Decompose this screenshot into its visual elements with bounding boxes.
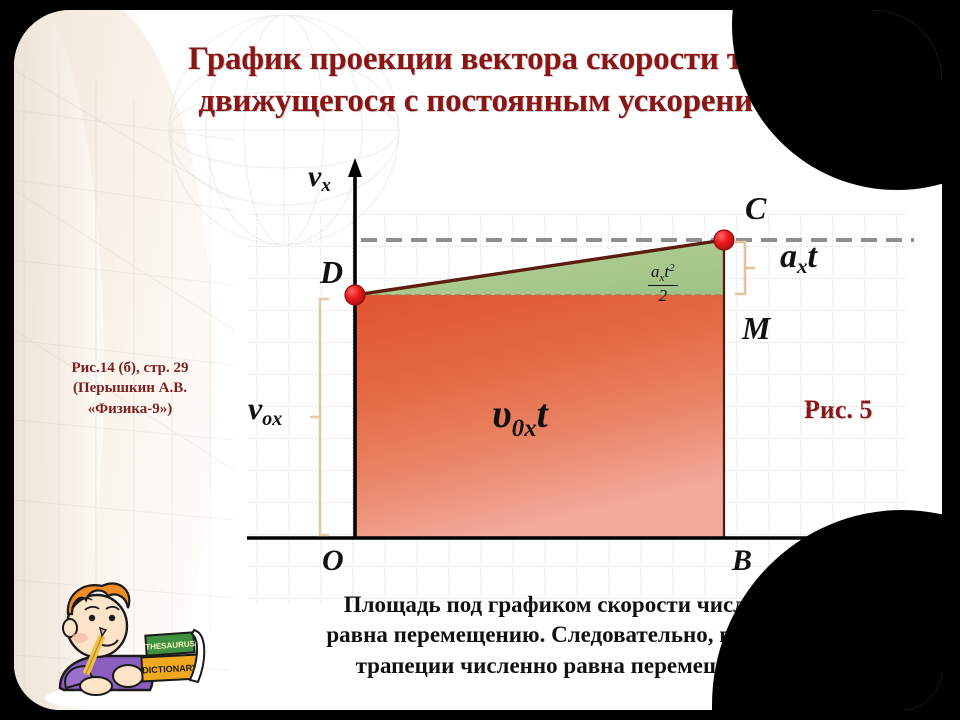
point-label-O: O [322,544,344,578]
area-label-rect-sub: 0x [512,415,537,442]
boy-with-books-clipart: THESAURUS DICTIONARY [42,570,212,710]
brace-label-v0x: vox [248,390,282,431]
brace-label-axt-a: a [780,238,797,275]
source-note: Рис.14 (б), стр. 29 (Перышкин А.В. «Физи… [40,358,220,419]
area-label-rect: υ0xt [492,390,548,443]
axis-label-vx: vx [308,160,331,197]
tri-num-pow: 2 [669,262,675,274]
point-marker-C [714,230,734,250]
axis-label-vx-sub: x [321,175,331,196]
brace-label-axt: axt [780,238,817,279]
brace-label-axt-sub: x [797,254,808,278]
area-label-triangle-denominator: 2 [648,286,678,306]
axis-label-vx-base: v [308,160,321,193]
point-label-D: D [320,254,343,291]
brace-label-v0x-sub: ox [262,408,282,430]
y-axis-arrow [348,158,362,177]
point-marker-D [345,285,365,305]
point-label-M: M [742,310,770,347]
area-label-triangle: axt2 2 [648,262,678,306]
area-label-rect-v: υ [492,391,512,436]
brace-label-v0x-base: v [248,390,262,426]
area-label-triangle-numerator: axt2 [648,262,678,286]
slide-card: График проекции вектора скорости тела, д… [14,10,942,710]
area-label-rect-t: t [537,391,548,436]
brace-label-axt-t: t [808,238,817,275]
slide-root: График проекции вектора скорости тела, д… [0,0,960,720]
point-label-B: B [732,544,752,578]
point-label-C: C [745,190,766,227]
tri-num-a: a [651,262,660,281]
